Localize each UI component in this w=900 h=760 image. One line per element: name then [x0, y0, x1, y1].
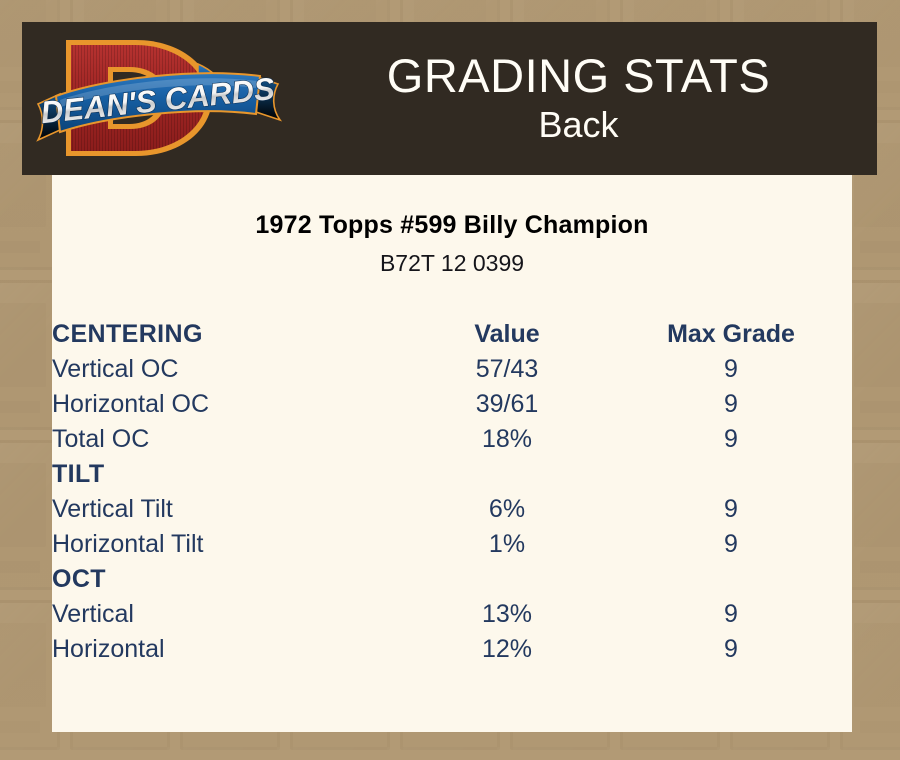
stat-value: 13% [404, 597, 610, 632]
table-row: Vertical 13% 9 [52, 597, 852, 632]
stat-max-grade: 9 [610, 492, 852, 527]
grading-stats-table: CENTERING Value Max Grade Vertical OC 57… [52, 317, 852, 667]
stat-value: 57/43 [404, 352, 610, 387]
stat-max-grade: 9 [610, 422, 852, 457]
stat-value: 6% [404, 492, 610, 527]
stat-label: Horizontal [52, 632, 404, 667]
card-serial-number: B72T 12 0399 [52, 250, 852, 277]
section-label-oct: OCT [52, 562, 404, 597]
header-bar: DEAN'S CARDS GRADING STATS Back [22, 22, 877, 175]
table-row: Horizontal Tilt 1% 9 [52, 527, 852, 562]
stat-max-grade: 9 [610, 352, 852, 387]
table-row: Vertical OC 57/43 9 [52, 352, 852, 387]
table-row: Total OC 18% 9 [52, 422, 852, 457]
header-title-group: GRADING STATS Back [300, 51, 877, 146]
stat-label: Horizontal OC [52, 387, 404, 422]
card-title: 1972 Topps #599 Billy Champion [52, 211, 852, 240]
stat-max-grade: 9 [610, 527, 852, 562]
stat-label: Horizontal Tilt [52, 527, 404, 562]
column-header-max-grade: Max Grade [610, 317, 852, 352]
stat-max-grade: 9 [610, 387, 852, 422]
section-header-centering: CENTERING Value Max Grade [52, 317, 852, 352]
stat-value: 39/61 [404, 387, 610, 422]
deans-cards-logo-icon: DEAN'S CARDS [30, 26, 300, 171]
stat-label: Total OC [52, 422, 404, 457]
stat-value: 18% [404, 422, 610, 457]
page-title: GRADING STATS [300, 51, 857, 100]
table-row: Horizontal OC 39/61 9 [52, 387, 852, 422]
table-row: Vertical Tilt 6% 9 [52, 492, 852, 527]
stat-value: 12% [404, 632, 610, 667]
section-header-tilt: TILT [52, 457, 852, 492]
stat-label: Vertical Tilt [52, 492, 404, 527]
section-label-tilt: TILT [52, 457, 404, 492]
table-row: Horizontal 12% 9 [52, 632, 852, 667]
page-subtitle: Back [300, 104, 857, 145]
stat-max-grade: 9 [610, 632, 852, 667]
section-label-centering: CENTERING [52, 317, 404, 352]
deans-cards-logo[interactable]: DEAN'S CARDS [30, 26, 300, 171]
stats-panel: 1972 Topps #599 Billy Champion B72T 12 0… [52, 175, 852, 732]
stat-value: 1% [404, 527, 610, 562]
section-header-oct: OCT [52, 562, 852, 597]
stat-label: Vertical [52, 597, 404, 632]
column-header-value: Value [404, 317, 610, 352]
stat-max-grade: 9 [610, 597, 852, 632]
stat-label: Vertical OC [52, 352, 404, 387]
